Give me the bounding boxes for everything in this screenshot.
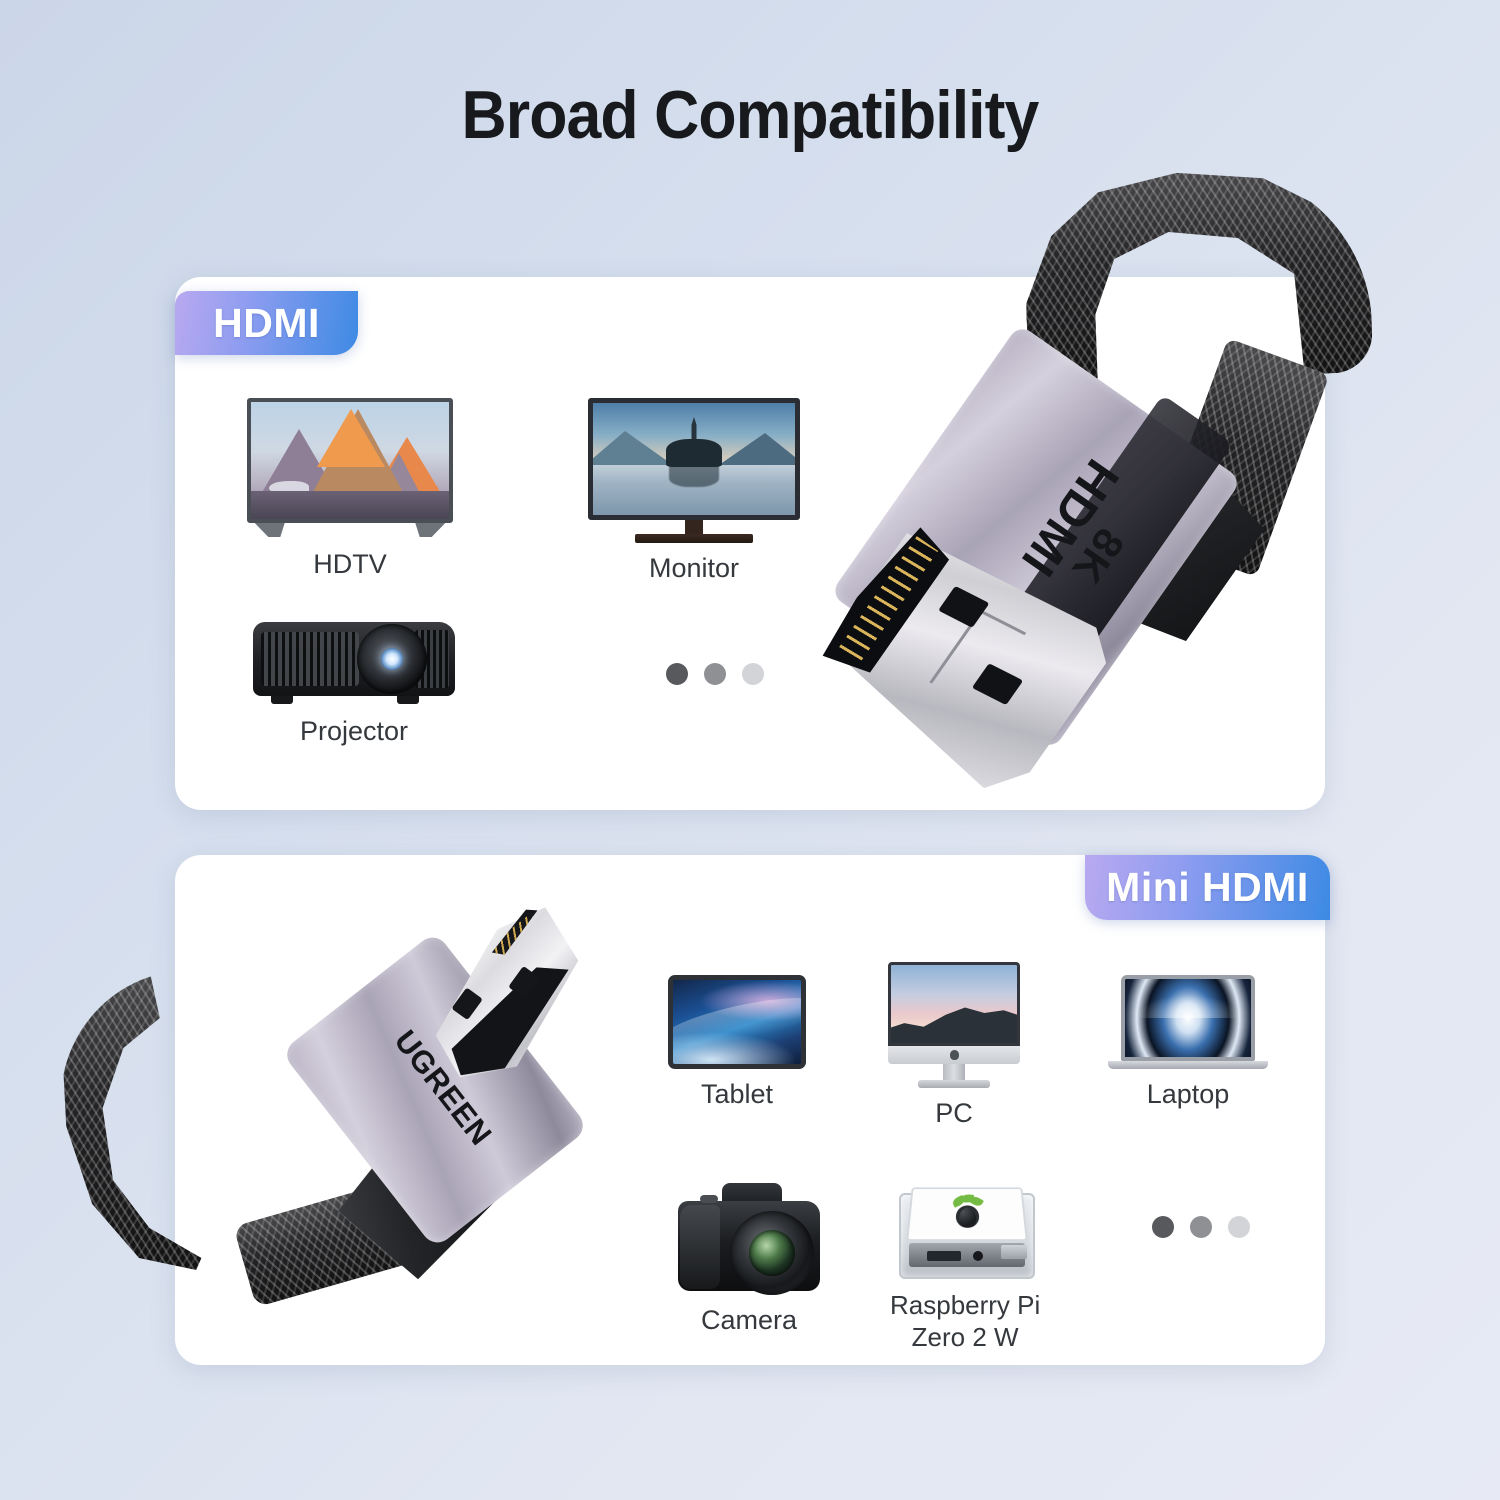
dot-3 [1228,1216,1250,1238]
dot-2 [704,663,726,685]
device-projector: Projector [253,622,455,748]
device-pc: PC [888,962,1020,1130]
dot-1 [1152,1216,1174,1238]
badge-mini-hdmi-label: Mini HDMI [1106,864,1309,911]
dot-2 [1190,1216,1212,1238]
device-camera-label: Camera [701,1304,797,1337]
television-icon [247,398,453,539]
laptop-icon [1108,975,1268,1069]
device-hdtv: HDTV [247,398,453,581]
raspberry-pi-icon [899,1185,1031,1281]
badge-mini-hdmi: Mini HDMI [1085,855,1330,920]
device-laptop: Laptop [1108,975,1268,1111]
device-monitor: Monitor [588,398,800,585]
device-hdtv-label: HDTV [313,548,387,581]
device-laptop-label: Laptop [1147,1078,1230,1111]
badge-hdmi: HDMI [175,291,358,355]
device-monitor-label: Monitor [649,552,739,585]
more-devices-dots-hdmi [666,663,764,685]
mini-hdmi-male-connector: UGREEN [45,930,645,1360]
monitor-icon [588,398,800,543]
dot-1 [666,663,688,685]
projector-icon [253,622,455,706]
device-raspberry-pi-label: Raspberry Pi Zero 2 W [890,1290,1040,1353]
device-camera: Camera [678,1183,820,1337]
device-tablet-label: Tablet [701,1078,773,1111]
device-pc-label: PC [935,1097,973,1130]
page-title: Broad Compatibility [60,76,1440,154]
camera-icon [678,1183,820,1295]
more-devices-dots-mini-hdmi [1152,1216,1250,1238]
desktop-computer-icon [888,962,1020,1088]
hdmi-male-connector: HDMI 8K [855,160,1375,820]
tablet-icon [668,975,806,1069]
dot-3 [742,663,764,685]
device-projector-label: Projector [300,715,408,748]
braided-cable-arc [1021,162,1373,384]
device-tablet: Tablet [668,975,806,1111]
device-raspberry-pi: Raspberry Pi Zero 2 W [890,1185,1040,1353]
badge-hdmi-label: HDMI [213,300,320,347]
